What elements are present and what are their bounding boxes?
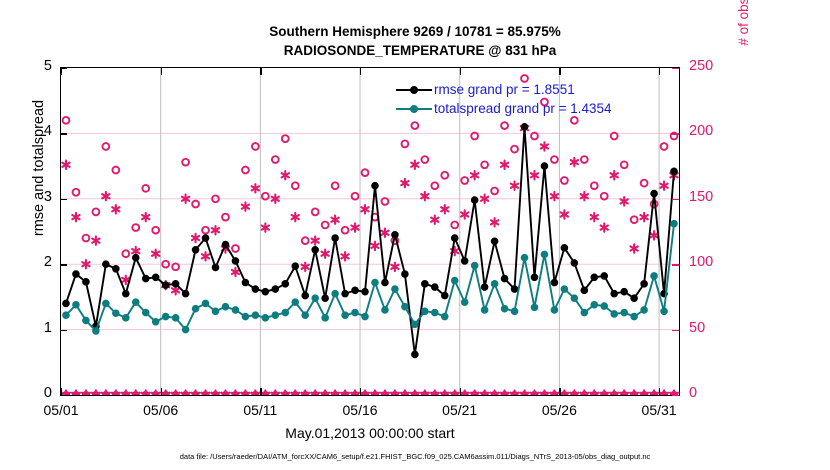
x-tickmark (659, 388, 660, 395)
x-tick-05/26: 05/26 (524, 402, 594, 418)
y-tick-left-0: 0 (12, 385, 52, 401)
y-tickmark-left (60, 395, 67, 396)
x-tickmark (360, 388, 361, 395)
y-tickmark-right (672, 330, 679, 331)
y-tick-right-250: 250 (689, 58, 735, 74)
x-tickmark-top (260, 68, 261, 75)
x-tickmark-top (360, 68, 361, 75)
x-tick-05/01: 05/01 (26, 402, 96, 418)
x-tickmark-top (61, 68, 62, 75)
y-tickmark-left (60, 199, 67, 200)
legend-swatch-totalspread (396, 102, 432, 116)
y-axis-label-left: rmse and totalspread (31, 3, 47, 333)
y-tickmark-right (672, 68, 679, 69)
x-tickmark (559, 388, 560, 395)
axis-tick-layer: 01234505010015020025005/0105/0605/1105/1… (0, 0, 830, 470)
y-tickmark-left (60, 330, 67, 331)
y-axis-label-right: # of obs: o=possible; ×=assimilated (736, 0, 751, 105)
legend-item-totalspread[interactable]: totalspread grand pr = 1.4354 (396, 99, 676, 118)
legend-swatch-rmse (396, 83, 432, 97)
y-tickmark-right (672, 264, 679, 265)
data-file-footer: data file: /Users/raeder/DAI/ATM_forcXX/… (0, 452, 830, 461)
y-tickmark-left (60, 133, 67, 134)
chart-legend: rmse grand pr = 1.8551 totalspread grand… (396, 80, 676, 118)
legend-label-totalspread: totalspread grand pr = 1.4354 (434, 99, 612, 118)
y-tickmark-right (672, 133, 679, 134)
y-tickmark-right (672, 199, 679, 200)
x-tick-05/21: 05/21 (425, 402, 495, 418)
x-tickmark (260, 388, 261, 395)
x-tickmark (460, 388, 461, 395)
y-tick-right-100: 100 (689, 254, 735, 270)
y-tick-right-0: 0 (689, 385, 735, 401)
y-tickmark-left (60, 264, 67, 265)
legend-label-rmse: rmse grand pr = 1.8551 (434, 80, 575, 99)
x-tickmark (61, 388, 62, 395)
chart-page: Southern Hemisphere 9269 / 10781 = 85.97… (0, 0, 830, 470)
x-tick-05/11: 05/11 (225, 402, 295, 418)
x-tickmark-top (659, 68, 660, 75)
y-tickmark-right (672, 395, 679, 396)
x-tickmark-top (161, 68, 162, 75)
y-tick-right-50: 50 (689, 320, 735, 336)
x-tickmark-top (460, 68, 461, 75)
y-tick-right-200: 200 (689, 123, 735, 139)
x-tick-05/06: 05/06 (126, 402, 196, 418)
y-tick-right-150: 150 (689, 189, 735, 205)
x-tickmark (161, 388, 162, 395)
x-axis-label: May.01,2013 00:00:00 start (0, 425, 740, 441)
x-tick-05/16: 05/16 (325, 402, 395, 418)
x-tickmark-top (559, 68, 560, 75)
legend-item-rmse[interactable]: rmse grand pr = 1.8551 (396, 80, 676, 99)
x-tick-05/31: 05/31 (624, 402, 694, 418)
